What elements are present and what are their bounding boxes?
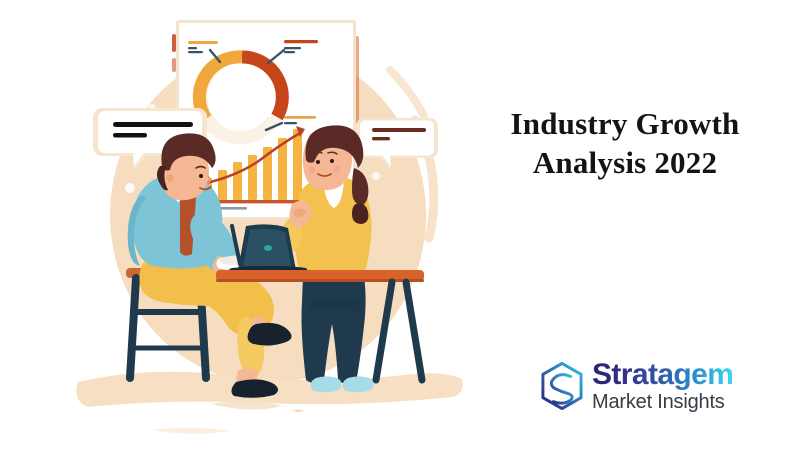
hexagon-s-logo-icon (536, 360, 588, 412)
logo-wordmark: Stratagem (592, 359, 733, 390)
title-line-2: Analysis 2022 (460, 143, 790, 182)
marketing-banner: Industry Growth Analysis 2022 (0, 0, 800, 450)
page-title: Industry Growth Analysis 2022 (460, 104, 790, 182)
title-line-1: Industry Growth (460, 104, 790, 143)
business-analysts-illustration (60, 0, 480, 450)
logo-tagline: Market Insights (592, 391, 733, 413)
ground-shadow (76, 372, 463, 434)
stratagem-logo[interactable]: Stratagem Market Insights (536, 358, 751, 420)
